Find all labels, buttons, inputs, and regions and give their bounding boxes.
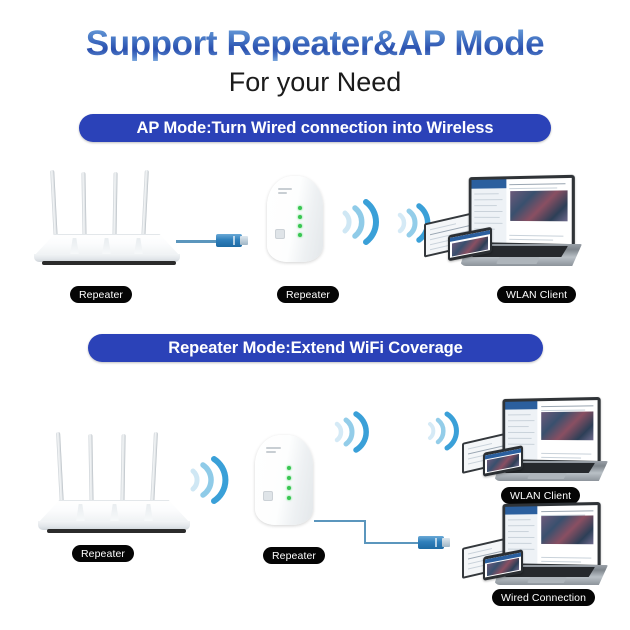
router-shadow-rp: [47, 529, 186, 533]
wifi-waves-ap-1: [337, 196, 381, 248]
extender-shell-rp: [255, 435, 313, 525]
rj45-connector-ap: [216, 234, 242, 247]
laptop-trackpad-wired: [527, 577, 567, 583]
wlan-client-cluster-rp: [462, 398, 614, 490]
router-antenna-1-rp: [56, 432, 64, 506]
phone-screen-ap: [450, 230, 490, 258]
rj45-tip-ap: [240, 236, 248, 245]
wifi-waves-rp-3: [424, 408, 460, 454]
router-antenna-4: [141, 170, 149, 240]
router-antenna-2: [81, 172, 86, 240]
extender-logo-sub-ap: [278, 192, 287, 194]
router-antenna-4-rp: [150, 432, 158, 506]
extender-led-4-ap: [298, 233, 302, 237]
wired-client-cluster-rp: [462, 503, 614, 593]
extender-logo-sub-rp: [266, 451, 276, 453]
phone-screen-wired: [485, 553, 521, 578]
ethernet-cable-rp-seg1: [314, 520, 366, 522]
wifi-extender-rp: [255, 435, 313, 525]
label-wlan-client-rp: WLAN Client: [501, 487, 580, 504]
extender-led-3-rp: [287, 486, 291, 490]
router-device-ap: [30, 168, 190, 273]
router-antenna-1: [50, 170, 58, 240]
ap-mode-banner: AP Mode:Turn Wired connection into Wirel…: [79, 114, 551, 142]
repeater-mode-banner: Repeater Mode:Extend WiFi Coverage: [88, 334, 543, 362]
extender-shell-ap: [267, 176, 323, 262]
extender-led-2-ap: [298, 215, 302, 219]
extender-logo-rp: [266, 447, 281, 449]
ethernet-cable-ap: [176, 240, 218, 243]
extender-button-ap[interactable]: [275, 229, 285, 239]
router-antenna-3-rp: [120, 434, 125, 506]
extender-led-4-rp: [287, 496, 291, 500]
phone-screen-rp: [485, 449, 521, 474]
laptop-trackpad-ap: [496, 257, 540, 264]
extender-led-3-ap: [298, 224, 302, 228]
router-antenna-2-rp: [88, 434, 93, 506]
extender-led-1-rp: [287, 466, 291, 470]
ethernet-cable-rp-seg2: [364, 520, 366, 544]
rj45-tip-rp: [442, 538, 450, 547]
label-extender-rp: Repeater: [263, 547, 325, 564]
rj45-connector-rp: [418, 536, 444, 549]
label-wlan-client-ap: WLAN Client: [497, 286, 576, 303]
wifi-extender-ap: [267, 176, 323, 262]
rj45-body-ap: [216, 234, 242, 247]
extender-logo-ap: [278, 188, 292, 190]
router-antenna-3: [112, 172, 117, 240]
page-subtitle: For your Need: [0, 69, 630, 96]
extender-led-2-rp: [287, 476, 291, 480]
wifi-waves-rp-2: [330, 408, 370, 456]
extender-button-rp[interactable]: [263, 491, 273, 501]
extender-led-1-ap: [298, 206, 302, 210]
wlan-client-cluster-ap: [424, 176, 588, 274]
header: Support Repeater&AP Mode For your Need: [0, 0, 630, 96]
label-router-ap: Repeater: [70, 286, 132, 303]
rj45-body-rp: [418, 536, 444, 549]
label-wired-connection: Wired Connection: [492, 589, 595, 606]
wifi-waves-rp-1: [185, 452, 229, 508]
rj45-stripe-rp: [435, 538, 437, 547]
rj45-stripe-ap: [233, 236, 235, 245]
page-title: Support Repeater&AP Mode: [0, 26, 630, 61]
label-router-rp: Repeater: [72, 545, 134, 562]
router-device-rp: [34, 430, 200, 540]
label-extender-ap: Repeater: [277, 286, 339, 303]
ethernet-cable-rp-seg3: [364, 542, 420, 544]
router-shadow: [42, 261, 176, 265]
laptop-trackpad-rp: [527, 473, 567, 479]
